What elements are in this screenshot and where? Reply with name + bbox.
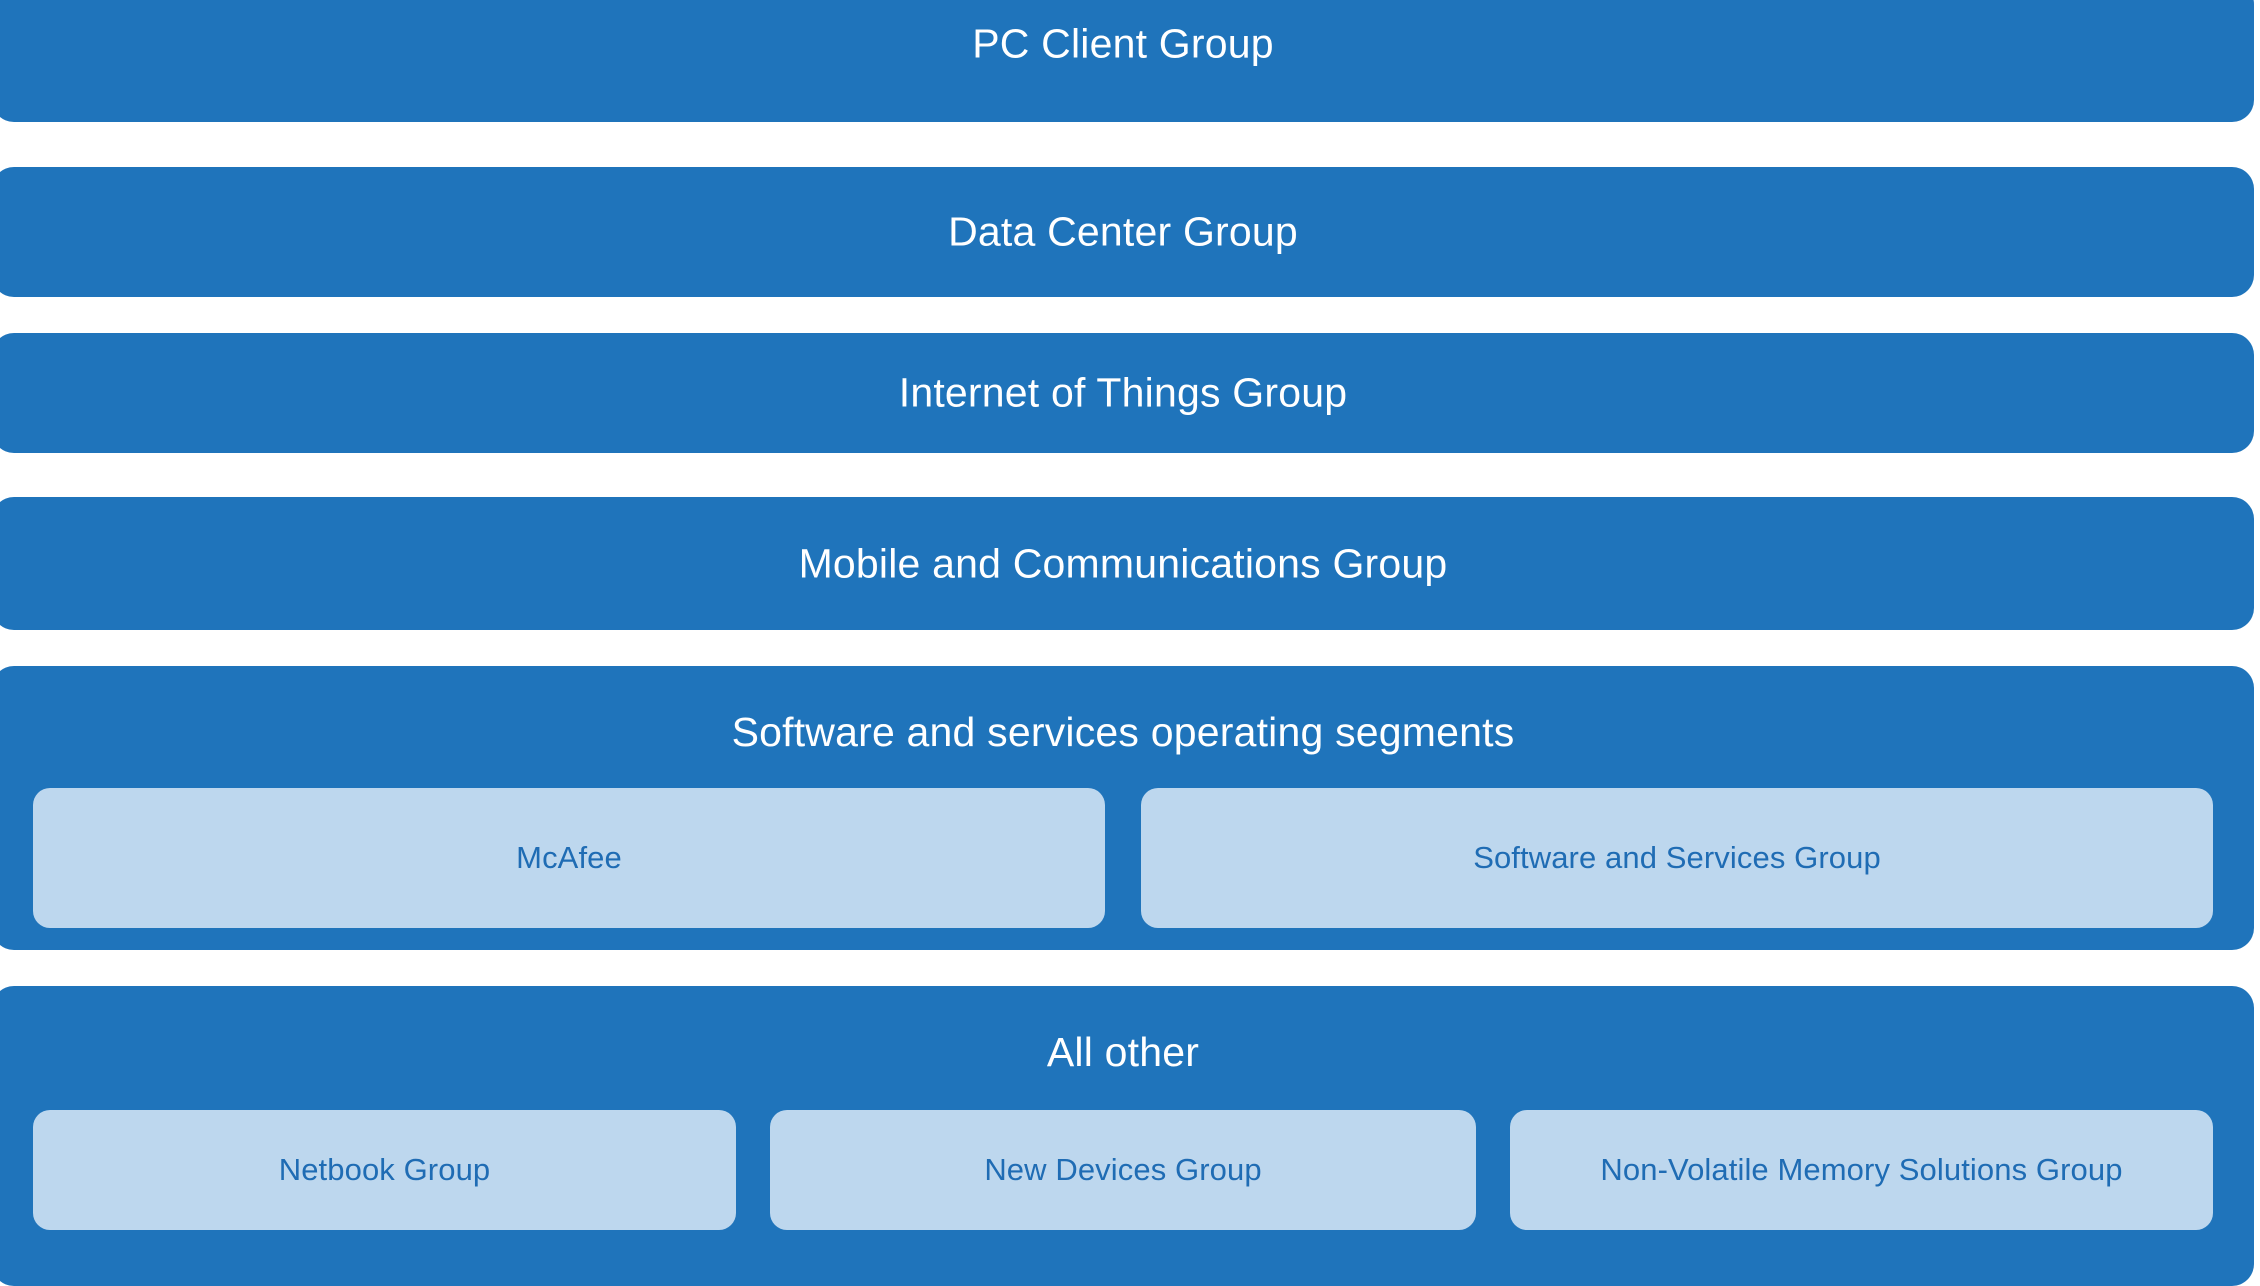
- child-box-mcafee[interactable]: McAfee: [33, 788, 1105, 928]
- segment-bar-software-and-services-operating-segments[interactable]: Software and services operating segments…: [0, 666, 2254, 950]
- child-row-software-and-services: McAfee Software and Services Group: [0, 788, 2254, 928]
- segment-bar-all-other[interactable]: All other Netbook Group New Devices Grou…: [0, 986, 2254, 1286]
- child-label-new-devices-group: New Devices Group: [984, 1152, 1261, 1188]
- segment-bar-data-center-group[interactable]: Data Center Group: [0, 167, 2254, 297]
- child-label-non-volatile-memory-solutions-group: Non-Volatile Memory Solutions Group: [1600, 1152, 2122, 1188]
- child-row-all-other: Netbook Group New Devices Group Non-Vola…: [0, 1110, 2254, 1230]
- child-label-software-and-services-group: Software and Services Group: [1473, 840, 1881, 876]
- segment-bar-pc-client-group[interactable]: PC Client Group: [0, 0, 2254, 122]
- segment-label-software-and-services-operating-segments: Software and services operating segments: [0, 710, 2254, 755]
- segment-label-internet-of-things-group: Internet of Things Group: [0, 370, 2254, 415]
- child-box-software-and-services-group[interactable]: Software and Services Group: [1141, 788, 2213, 928]
- segment-label-data-center-group: Data Center Group: [0, 209, 2254, 254]
- segment-bar-mobile-and-communications-group[interactable]: Mobile and Communications Group: [0, 497, 2254, 630]
- segment-label-mobile-and-communications-group: Mobile and Communications Group: [0, 541, 2254, 586]
- segment-label-pc-client-group: PC Client Group: [0, 21, 2254, 66]
- child-label-netbook-group: Netbook Group: [279, 1152, 491, 1188]
- operating-segments-diagram: PC Client Group Data Center Group Intern…: [0, 0, 2260, 1274]
- child-box-netbook-group[interactable]: Netbook Group: [33, 1110, 736, 1230]
- segment-bar-internet-of-things-group[interactable]: Internet of Things Group: [0, 333, 2254, 453]
- segment-label-all-other: All other: [0, 1030, 2254, 1075]
- child-label-mcafee: McAfee: [516, 840, 622, 876]
- child-box-non-volatile-memory-solutions-group[interactable]: Non-Volatile Memory Solutions Group: [1510, 1110, 2213, 1230]
- child-box-new-devices-group[interactable]: New Devices Group: [770, 1110, 1476, 1230]
